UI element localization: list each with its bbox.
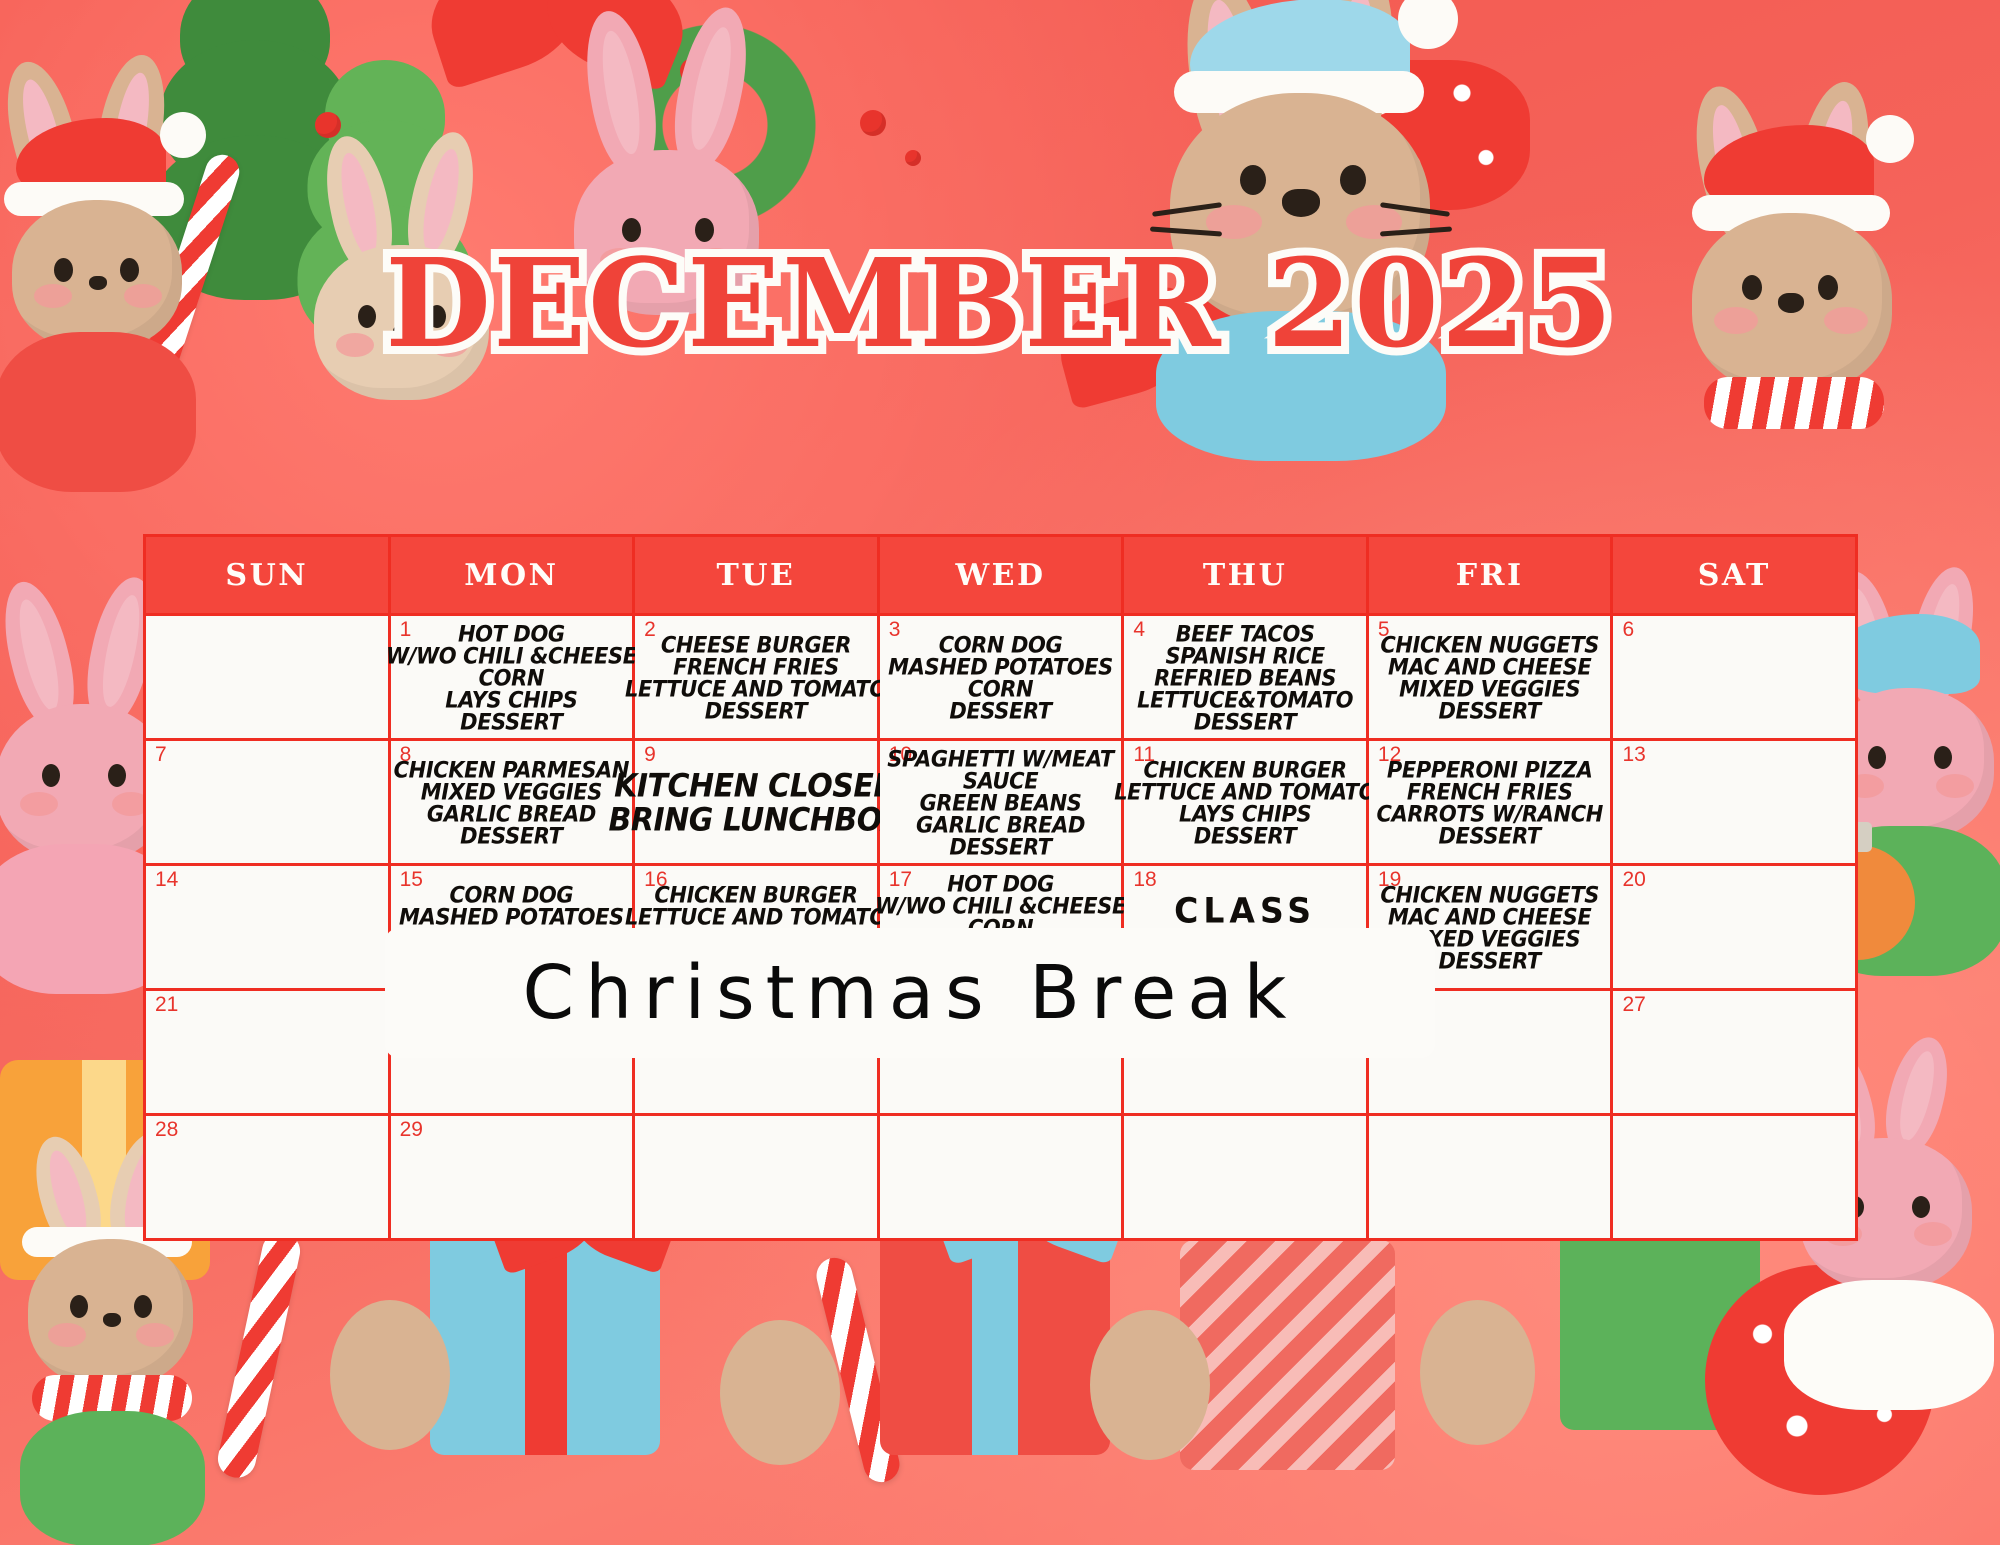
christmas-break-label: Christmas Break bbox=[523, 950, 1298, 1036]
day-number: 2 bbox=[644, 619, 656, 640]
menu-item: KITCHEN CLOSED bbox=[614, 769, 898, 805]
day-number: 15 bbox=[400, 869, 423, 890]
day-number: 18 bbox=[1133, 869, 1156, 890]
calendar-weeks: 1HOT DOGW/WO CHILI &CHEESECORNLAYS CHIPS… bbox=[146, 613, 1855, 1238]
day-of-week-header-row: SUNMONTUEWEDTHUFRISAT bbox=[146, 537, 1855, 613]
calendar-day-cell-6[interactable]: 6 bbox=[1613, 616, 1855, 738]
gift-box-icon bbox=[1180, 1240, 1395, 1470]
calendar-week-row: 78CHICKEN PARMESANMIXED VEGGIESGARLIC BR… bbox=[146, 738, 1855, 863]
day-of-week-header-wed: WED bbox=[880, 537, 1125, 613]
day-of-week-header-fri: FRI bbox=[1369, 537, 1614, 613]
menu-item: DESSERT bbox=[460, 825, 562, 848]
menu-item: BRING LUNCHBOX bbox=[609, 803, 904, 839]
holly-berry-icon bbox=[905, 150, 921, 166]
menu-item: DESSERT bbox=[1194, 711, 1296, 734]
calendar-day-cell-empty[interactable] bbox=[1124, 1116, 1369, 1238]
day-number: 14 bbox=[155, 869, 178, 890]
calendar-day-cell-28[interactable]: 28 bbox=[146, 1116, 391, 1238]
calendar-day-cell-4[interactable]: 4BEEF TACOSSPANISH RICEREFRIED BEANSLETT… bbox=[1124, 616, 1369, 738]
menu-item: DESSERT bbox=[1194, 825, 1296, 848]
menu-list: KITCHEN CLOSEDBRING LUNCHBOX bbox=[639, 747, 873, 859]
menu-list: SPAGHETTI W/MEATSAUCEGREEN BEANSGARLIC B… bbox=[884, 747, 1118, 859]
calendar-day-cell-3[interactable]: 3CORN DOGMASHED POTATOESCORNDESSERT bbox=[880, 616, 1125, 738]
menu-list: CHICKEN BURGERLETTUCE AND TOMATOLAYS CHI… bbox=[1128, 747, 1362, 859]
decorative-blob bbox=[720, 1320, 840, 1465]
day-number: 6 bbox=[1622, 619, 1634, 640]
calendar-day-cell-2[interactable]: 2CHEESE BURGERFRENCH FRIESLETTUCE AND TO… bbox=[635, 616, 880, 738]
calendar-day-cell-14[interactable]: 14 bbox=[146, 866, 391, 988]
gift-box-icon bbox=[430, 1225, 660, 1455]
page-title: DECEMBER 2025 bbox=[0, 242, 2000, 364]
calendar-day-cell-12[interactable]: 12PEPPERONI PIZZAFRENCH FRIESCARROTS W/R… bbox=[1369, 741, 1614, 863]
day-number: 17 bbox=[889, 869, 912, 890]
calendar-day-cell-29[interactable]: 29 bbox=[391, 1116, 636, 1238]
calendar-day-cell-20[interactable]: 20 bbox=[1613, 866, 1855, 988]
calendar-day-cell-5[interactable]: 5CHICKEN NUGGETSMAC AND CHEESEMIXED VEGG… bbox=[1369, 616, 1614, 738]
menu-item: DESSERT bbox=[1438, 825, 1540, 848]
day-number: 9 bbox=[644, 744, 656, 765]
menu-list: CHICKEN PARMESANMIXED VEGGIESGARLIC BREA… bbox=[395, 747, 629, 859]
menu-list: CORN DOGMASHED POTATOESCORNDESSERT bbox=[884, 622, 1118, 734]
day-of-week-header-thu: THU bbox=[1124, 537, 1369, 613]
day-number: 13 bbox=[1622, 744, 1645, 765]
calendar-day-cell-empty[interactable] bbox=[146, 616, 391, 738]
decorative-blob bbox=[330, 1300, 450, 1450]
day-of-week-label: MON bbox=[464, 558, 558, 593]
menu-item: DESSERT bbox=[949, 836, 1051, 859]
calendar-day-cell-1[interactable]: 1HOT DOGW/WO CHILI &CHEESECORNLAYS CHIPS… bbox=[391, 616, 636, 738]
menu-list: HOT DOGW/WO CHILI &CHEESECORNLAYS CHIPSD… bbox=[395, 622, 629, 734]
calendar-day-cell-10[interactable]: 10SPAGHETTI W/MEATSAUCEGREEN BEANSGARLIC… bbox=[880, 741, 1125, 863]
menu-item: DESSERT bbox=[1438, 700, 1540, 723]
calendar-week-row: 1HOT DOGW/WO CHILI &CHEESECORNLAYS CHIPS… bbox=[146, 613, 1855, 738]
day-number: 1 bbox=[400, 619, 412, 640]
calendar-day-cell-empty[interactable] bbox=[1613, 1116, 1855, 1238]
day-of-week-header-mon: MON bbox=[391, 537, 636, 613]
calendar-day-cell-7[interactable]: 7 bbox=[146, 741, 391, 863]
day-number: 29 bbox=[400, 1119, 423, 1140]
menu-item: DESSERT bbox=[705, 700, 807, 723]
day-of-week-header-sun: SUN bbox=[146, 537, 391, 613]
calendar-day-cell-27[interactable]: 27 bbox=[1613, 991, 1855, 1113]
menu-list: BEEF TACOSSPANISH RICEREFRIED BEANSLETTU… bbox=[1128, 622, 1362, 734]
calendar-day-cell-11[interactable]: 11CHICKEN BURGERLETTUCE AND TOMATOLAYS C… bbox=[1124, 741, 1369, 863]
day-of-week-label: FRI bbox=[1456, 558, 1524, 593]
holly-berry-icon bbox=[860, 110, 886, 136]
calendar-day-cell-empty[interactable] bbox=[1369, 1116, 1614, 1238]
day-number: 27 bbox=[1622, 994, 1645, 1015]
day-of-week-label: SAT bbox=[1698, 558, 1771, 593]
calendar-day-cell-8[interactable]: 8CHICKEN PARMESANMIXED VEGGIESGARLIC BRE… bbox=[391, 741, 636, 863]
day-of-week-label: WED bbox=[955, 558, 1045, 593]
calendar-day-cell-9[interactable]: 9KITCHEN CLOSEDBRING LUNCHBOX bbox=[635, 741, 880, 863]
decorative-blob bbox=[1420, 1300, 1535, 1445]
day-number: 21 bbox=[155, 994, 178, 1015]
calendar-day-cell-13[interactable]: 13 bbox=[1613, 741, 1855, 863]
calendar-day-cell-empty[interactable] bbox=[635, 1116, 880, 1238]
day-of-week-label: TUE bbox=[717, 558, 796, 593]
calendar-day-cell-21[interactable]: 21 bbox=[146, 991, 391, 1113]
calendar-week-row: 2829 bbox=[146, 1113, 1855, 1238]
day-of-week-header-sat: SAT bbox=[1613, 537, 1855, 613]
christmas-break-banner: Christmas Break bbox=[385, 928, 1435, 1058]
menu-list: PEPPERONI PIZZAFRENCH FRIESCARROTS W/RAN… bbox=[1373, 747, 1607, 859]
gift-box-icon bbox=[880, 1215, 1110, 1455]
day-number: 20 bbox=[1622, 869, 1645, 890]
day-number: 3 bbox=[889, 619, 901, 640]
day-number: 7 bbox=[155, 744, 167, 765]
calendar-day-cell-empty[interactable] bbox=[880, 1116, 1125, 1238]
day-of-week-label: SUN bbox=[225, 558, 308, 593]
calendar-grid: SUNMONTUEWEDTHUFRISAT 1HOT DOGW/WO CHILI… bbox=[143, 534, 1858, 1241]
menu-item: DESSERT bbox=[460, 711, 562, 734]
menu-item: DESSERT bbox=[949, 700, 1051, 723]
decorative-blob bbox=[1090, 1310, 1210, 1460]
menu-item: CLASS bbox=[1174, 892, 1316, 930]
menu-item: DESSERT bbox=[1438, 950, 1540, 973]
menu-list: CHICKEN NUGGETSMAC AND CHEESEMIXED VEGGI… bbox=[1373, 622, 1607, 734]
day-number: 28 bbox=[155, 1119, 178, 1140]
day-of-week-label: THU bbox=[1203, 558, 1287, 593]
day-of-week-header-tue: TUE bbox=[635, 537, 880, 613]
menu-list: CHEESE BURGERFRENCH FRIESLETTUCE AND TOM… bbox=[639, 622, 873, 734]
day-number: 4 bbox=[1133, 619, 1145, 640]
